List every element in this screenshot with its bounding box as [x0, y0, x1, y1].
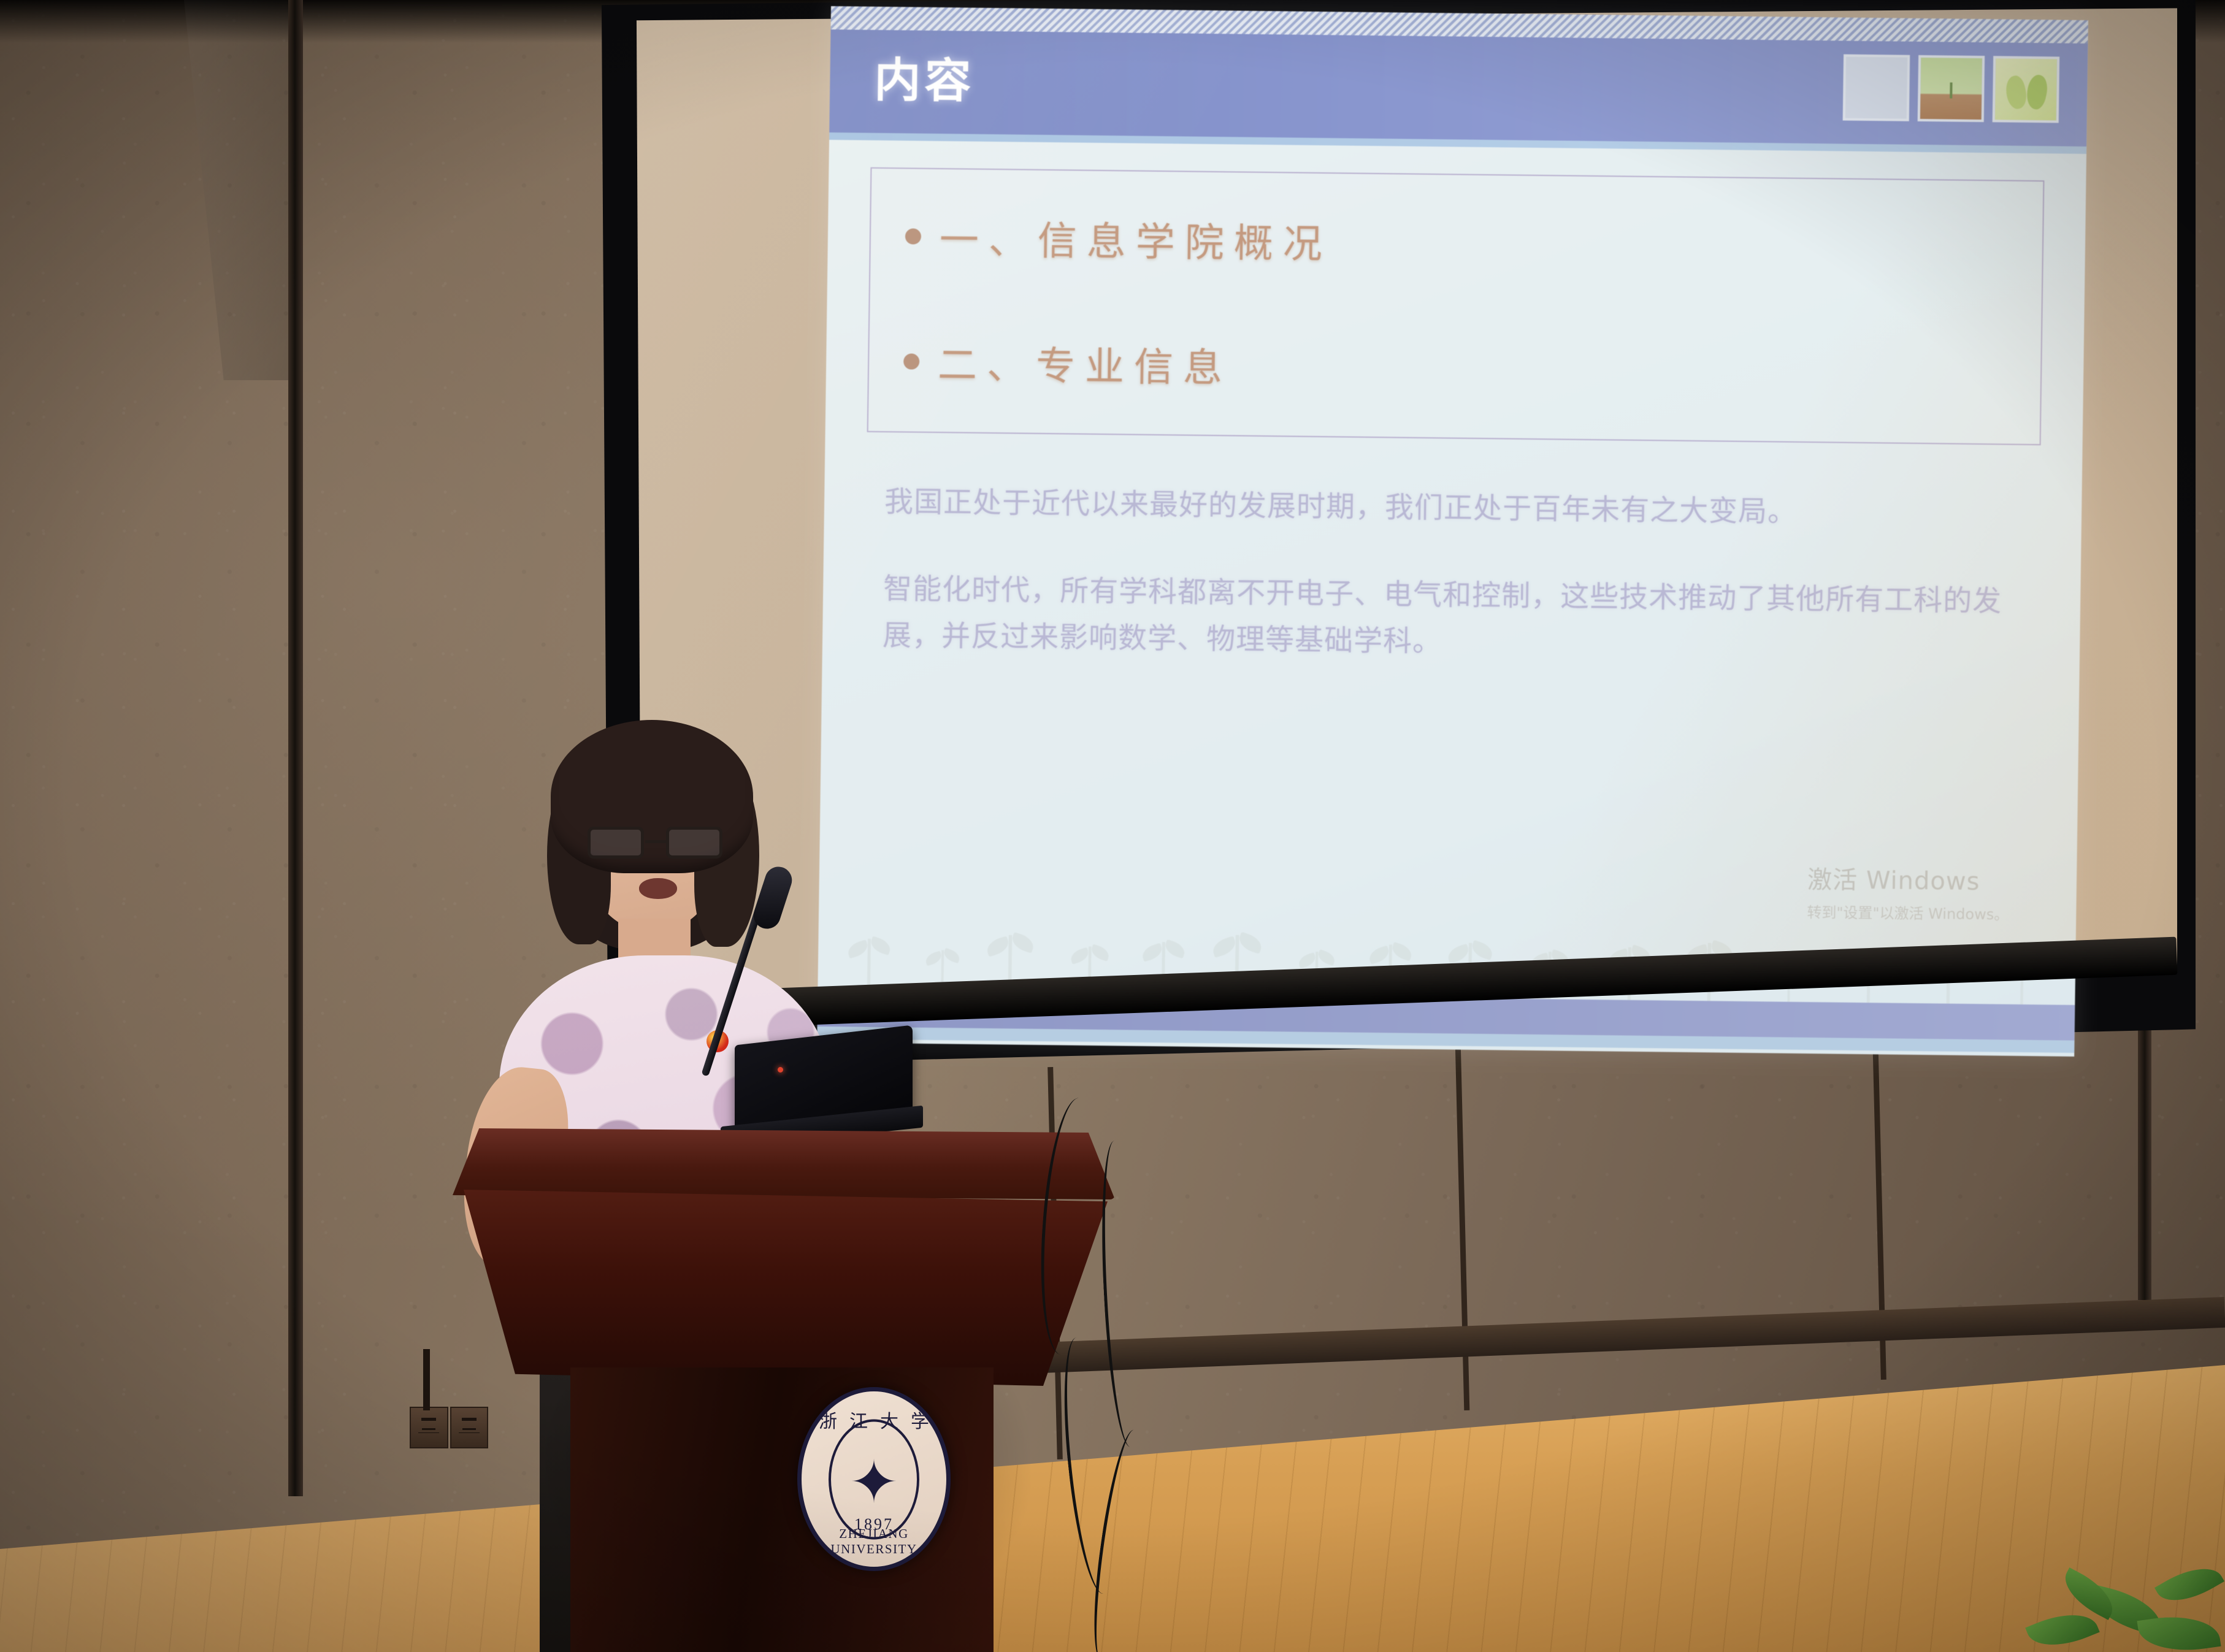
potted-plant — [2004, 1554, 2225, 1652]
leaves-thumbnail — [1993, 56, 2059, 123]
list-item: 二、专业信息 — [869, 333, 2041, 402]
podium-top — [453, 1128, 1115, 1199]
leaf — [2025, 1602, 2099, 1652]
seedling-thumbnail — [1918, 55, 1985, 122]
slide-thumbnail-strip — [1843, 55, 2059, 123]
list-item: 一、信息学院概况 — [870, 208, 2042, 277]
bullet-label-2: 二、专业信息 — [938, 334, 1233, 393]
blank-thumbnail — [1843, 55, 1910, 121]
windows-activation-title: 激活 Windows — [1807, 860, 2010, 898]
socket-conduit — [423, 1349, 430, 1410]
bullet-label-1: 一、信息学院概况 — [939, 208, 1332, 269]
leaf — [2154, 1556, 2224, 1613]
emblem-english-name: ZHEJIANG UNIVERSITY — [802, 1526, 946, 1557]
projected-slide: 内容 一、信息学院概况 二、专业信息 我国正处于近代以来最好的发展时期，我们正处… — [817, 6, 2088, 1057]
slide-content-box: 一、信息学院概况 二、专业信息 — [867, 167, 2045, 445]
slide-title: 内容 — [874, 42, 975, 111]
emblem-qiushi-bird-icon: ✦ — [849, 1453, 898, 1512]
slide-paragraph-2: 智能化时代，所有学科都离不开电子、电气和控制，这些技术推动了其他所有工科的发展，… — [883, 566, 2026, 672]
zhejiang-university-emblem: 浙江大学 ✦ 1897 ZHEJIANG UNIVERSITY — [797, 1387, 951, 1571]
mouth — [639, 878, 677, 899]
bullet-dot-icon — [903, 353, 919, 369]
lens-left — [588, 827, 644, 859]
slide-paragraph-1: 我国正处于近代以来最好的发展时期，我们正处于百年未有之大变局。 — [884, 479, 2027, 538]
glasses — [586, 827, 724, 859]
bullet-dot-icon — [905, 228, 921, 244]
lecture-hall-photo: 内容 一、信息学院概况 二、专业信息 我国正处于近代以来最好的发展时期，我们正处… — [0, 0, 2225, 1652]
wall-sockets[interactable] — [410, 1407, 488, 1448]
podium-front-panel — [464, 1190, 1108, 1386]
laptop-power-led-icon — [778, 1067, 783, 1073]
lens-right — [666, 827, 722, 859]
glasses-bridge — [645, 840, 666, 843]
wall-pillar-left — [288, 0, 303, 1496]
socket-left[interactable] — [410, 1407, 448, 1448]
